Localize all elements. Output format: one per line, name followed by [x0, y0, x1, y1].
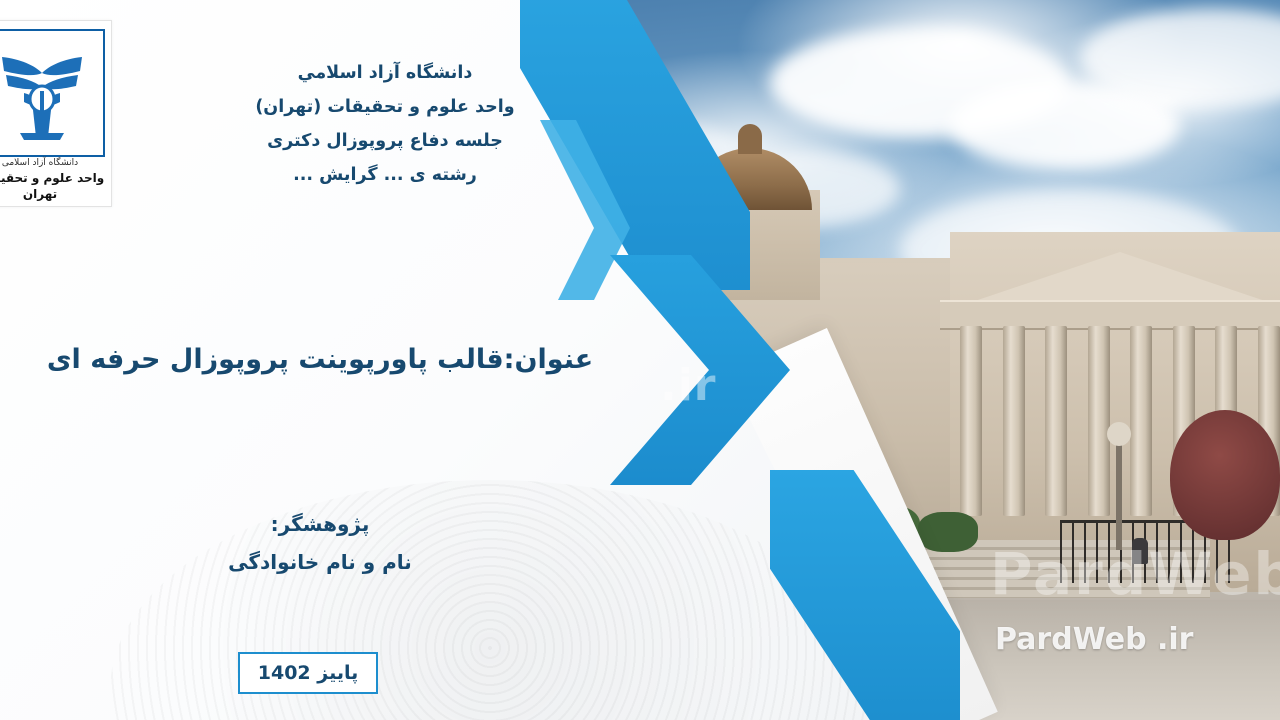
presentation-slide: دانشگاه آزاد اسلامی واحد علوم و تحقیقات … — [0, 0, 1280, 720]
header-line-session: جلسه دفاع پروپوزال دکتری — [220, 124, 550, 158]
date-badge: پاییز 1402 — [238, 652, 378, 694]
header-line-branch: واحد علوم و تحقيقات (تهران) — [220, 90, 550, 124]
researcher-label: پژوهشگر: — [120, 505, 520, 543]
watermark-large: PardWeb — [990, 540, 1280, 608]
red-tree — [1170, 410, 1280, 540]
azad-university-emblem-icon — [0, 41, 94, 145]
watermark-bottom: PardWeb .ir — [995, 622, 1193, 657]
logo-caption: دانشگاه آزاد اسلامی واحد علوم و تحقیقات … — [0, 157, 111, 202]
logo-caption-line1: دانشگاه آزاد اسلامی — [0, 157, 111, 169]
header-line-field: رشته ی ... گرایش ... — [220, 158, 550, 192]
logo-caption-line2: واحد علوم و تحقیقات تهران — [0, 170, 111, 202]
dome-finial — [738, 124, 762, 154]
bush — [918, 512, 978, 552]
researcher-name: نام و نام خانوادگی — [120, 543, 520, 581]
university-logo: دانشگاه آزاد اسلامی واحد علوم و تحقیقات … — [0, 20, 112, 207]
header-line-university: دانشگاه آزاد اسلامي — [220, 56, 550, 90]
logo-frame — [0, 29, 105, 157]
header-text-block: دانشگاه آزاد اسلامي واحد علوم و تحقيقات … — [220, 56, 550, 193]
slide-title: عنوان:قالب پاورپوینت پروپوزال حرفه ای — [40, 340, 600, 381]
street-lamp — [1116, 440, 1122, 550]
researcher-block: پژوهشگر: نام و نام خانوادگی — [120, 505, 520, 581]
building-pediment — [960, 252, 1280, 306]
watermark-center: .ir — [660, 360, 717, 411]
